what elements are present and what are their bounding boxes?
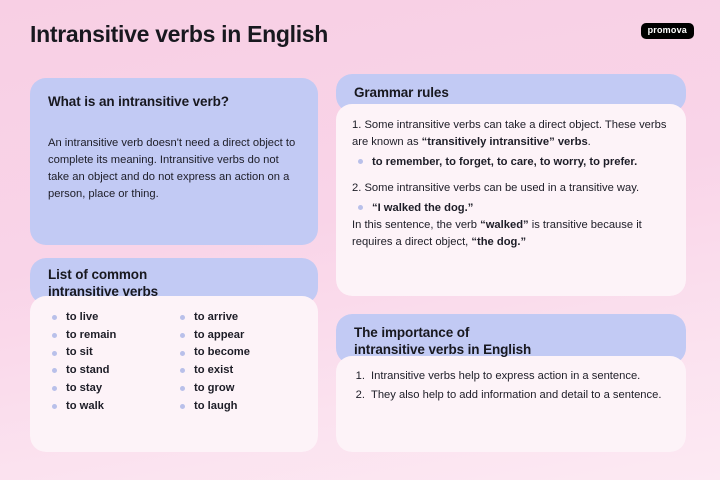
list-item: to become xyxy=(180,347,274,358)
grammar-rule-2-text: 2. Some intransitive verbs can be used i… xyxy=(352,180,670,197)
list-item: to grow xyxy=(180,383,274,394)
grammar-rule-2: 2. Some intransitive verbs can be used i… xyxy=(352,180,670,251)
definition-card-text: An intransitive verb doesn't need a dire… xyxy=(48,135,300,203)
list-item: to exist xyxy=(180,365,274,376)
importance-numbered-list: 1. Intransitive verbs help to express ac… xyxy=(352,368,670,404)
bullet-dot-icon xyxy=(180,404,185,409)
list-item-text: They also help to add information and de… xyxy=(371,387,670,404)
bullet-dot-icon xyxy=(180,368,185,373)
definition-card: What is an intransitive verb? An intrans… xyxy=(30,78,318,245)
importance-title-line2: intransitive verbs in English xyxy=(354,342,531,357)
rule1-bullet-text: to remember, to forget, to care, to worr… xyxy=(372,154,637,171)
bullet-dot-icon xyxy=(180,333,185,338)
list-item: 1. Intransitive verbs help to express ac… xyxy=(352,368,670,385)
verb-label: to appear xyxy=(194,330,244,341)
verb-label: to live xyxy=(66,312,98,323)
verb-column-right: to arrive to appear to become to exist t… xyxy=(180,312,274,412)
verb-label: to exist xyxy=(194,365,233,376)
importance-title-line1: The importance of xyxy=(354,325,469,340)
rule2-exp-a: In this sentence, the verb xyxy=(352,219,480,231)
list-item: to stand xyxy=(52,365,146,376)
grammar-rules-card: Grammar rules 1. Some intransitive verbs… xyxy=(336,74,686,296)
page-title: Intransitive verbs in English xyxy=(30,22,328,47)
infographic-page: Intransitive verbs in English promova Wh… xyxy=(0,0,720,480)
bullet-dot-icon xyxy=(180,386,185,391)
verb-label: to stay xyxy=(66,383,102,394)
verb-list-title-line1: List of common xyxy=(48,267,147,282)
grammar-rule-2-bullet: “I walked the dog.” xyxy=(358,200,670,217)
list-item: to arrive xyxy=(180,312,274,323)
verb-list-title-line2: intransitive verbs xyxy=(48,284,158,299)
list-item: 2. They also help to add information and… xyxy=(352,387,670,404)
bullet-dot-icon xyxy=(358,205,363,210)
grammar-rule-1: 1. Some intransitive verbs can take a di… xyxy=(352,117,670,171)
rule1-bold: “transitively intransitive” verbs xyxy=(422,136,588,148)
bullet-dot-icon xyxy=(180,315,185,320)
verb-label: to walk xyxy=(66,401,104,412)
bullet-dot-icon xyxy=(52,351,57,356)
list-item: to stay xyxy=(52,383,146,394)
verb-label: to sit xyxy=(66,347,93,358)
bullet-dot-icon xyxy=(52,333,57,338)
grammar-rule-1-text: 1. Some intransitive verbs can take a di… xyxy=(352,117,670,151)
grammar-rule-1-bullet: to remember, to forget, to care, to worr… xyxy=(358,154,670,171)
rule1-part-b: . xyxy=(588,136,591,148)
verb-label: to remain xyxy=(66,330,116,341)
importance-card-body: 1. Intransitive verbs help to express ac… xyxy=(336,356,686,452)
verb-label: to stand xyxy=(66,365,110,376)
list-marker: 2. xyxy=(352,387,365,404)
list-item: to remain xyxy=(52,330,146,341)
list-item-text: Intransitive verbs help to express actio… xyxy=(371,368,670,385)
verb-list-card-body: to live to remain to sit to stand to sta… xyxy=(30,296,318,452)
rule2-exp-bold1: “walked” xyxy=(480,219,529,231)
bullet-dot-icon xyxy=(180,351,185,356)
verb-label: to laugh xyxy=(194,401,238,412)
bullet-dot-icon xyxy=(52,368,57,373)
grammar-rule-2-explanation: In this sentence, the verb “walked” is t… xyxy=(352,217,670,251)
rule2-bullet-text: “I walked the dog.” xyxy=(372,200,473,217)
importance-card: The importance of intransitive verbs in … xyxy=(336,314,686,452)
list-marker: 1. xyxy=(352,368,365,385)
list-item: to live xyxy=(52,312,146,323)
promova-logo: promova xyxy=(641,23,694,39)
bullet-dot-icon xyxy=(52,315,57,320)
list-item: to sit xyxy=(52,347,146,358)
bullet-dot-icon xyxy=(358,159,363,164)
bullet-dot-icon xyxy=(52,386,57,391)
grammar-rules-card-body: 1. Some intransitive verbs can take a di… xyxy=(336,104,686,296)
list-item: to appear xyxy=(180,330,274,341)
verb-label: to become xyxy=(194,347,250,358)
rule2-exp-bold2: “the dog.” xyxy=(471,236,526,248)
verb-label: to grow xyxy=(194,383,234,394)
verb-grid: to live to remain to sit to stand to sta… xyxy=(52,312,300,412)
list-item: to walk xyxy=(52,401,146,412)
verb-column-left: to live to remain to sit to stand to sta… xyxy=(52,312,146,412)
bullet-dot-icon xyxy=(52,404,57,409)
list-item: to laugh xyxy=(180,401,274,412)
verb-label: to arrive xyxy=(194,312,238,323)
definition-card-title: What is an intransitive verb? xyxy=(48,94,300,109)
verb-list-card: List of common intransitive verbs to liv… xyxy=(30,258,318,452)
